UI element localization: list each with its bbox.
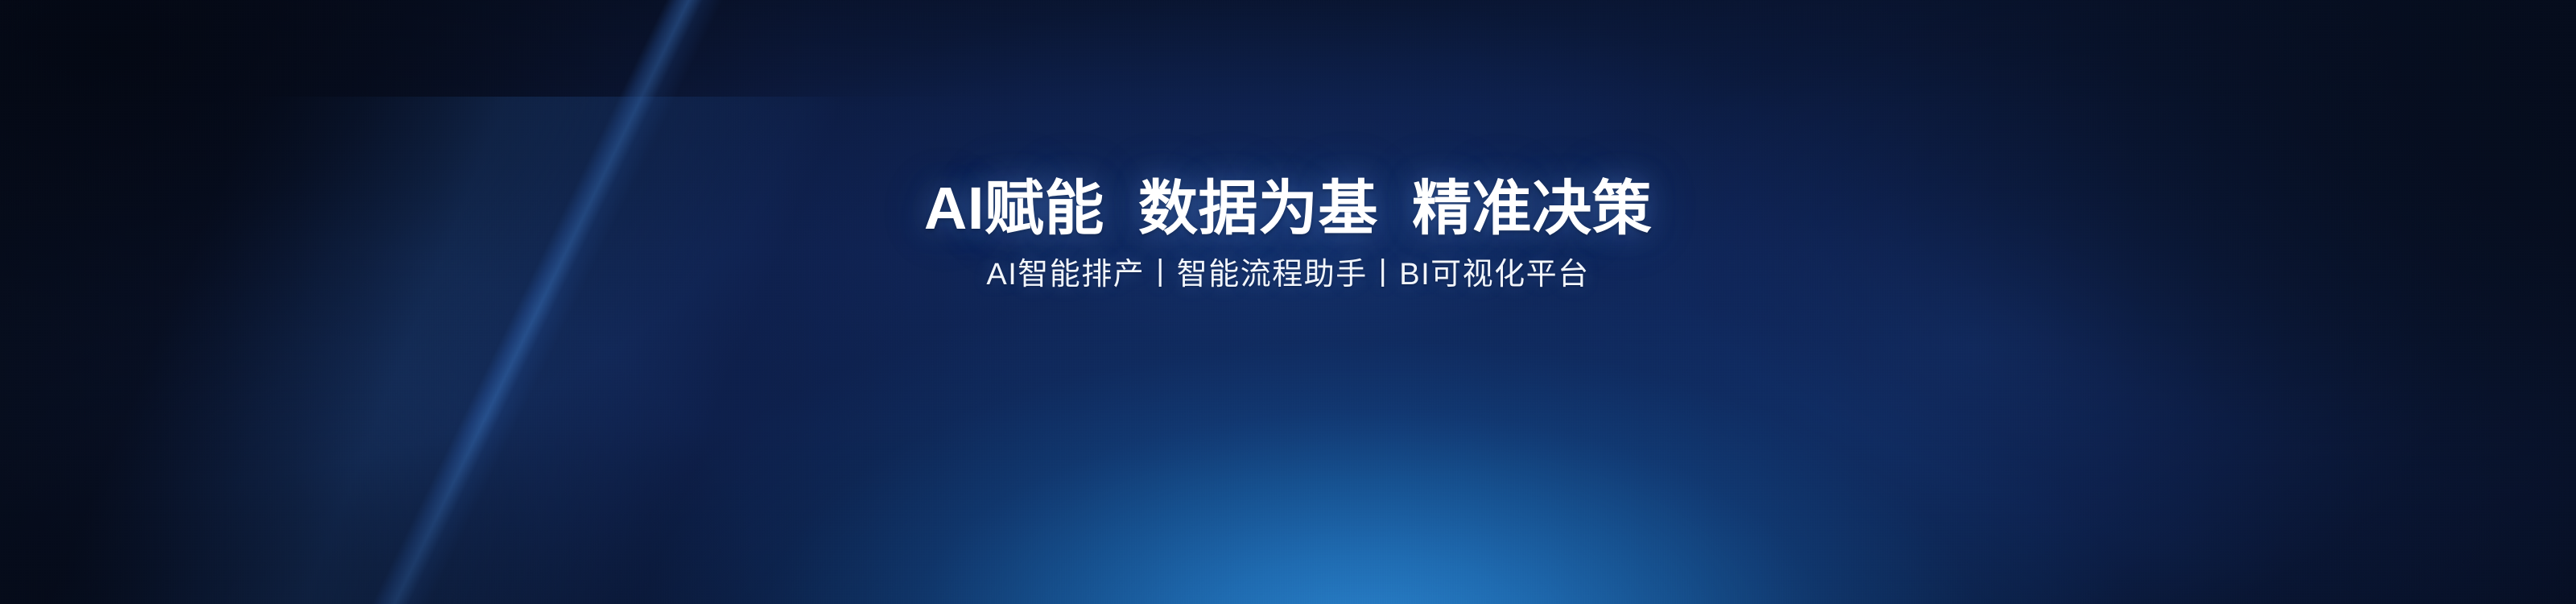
banner-headline: AI赋能 数据为基 精准决策: [924, 179, 1652, 238]
banner-subheadline: AI智能排产丨智能流程助手丨BI可视化平台: [986, 259, 1589, 290]
hero-banner: AI赋能 数据为基 精准决策 AI智能排产丨智能流程助手丨BI可视化平台: [0, 0, 2576, 604]
banner-content: AI赋能 数据为基 精准决策 AI智能排产丨智能流程助手丨BI可视化平台: [0, 0, 2576, 604]
